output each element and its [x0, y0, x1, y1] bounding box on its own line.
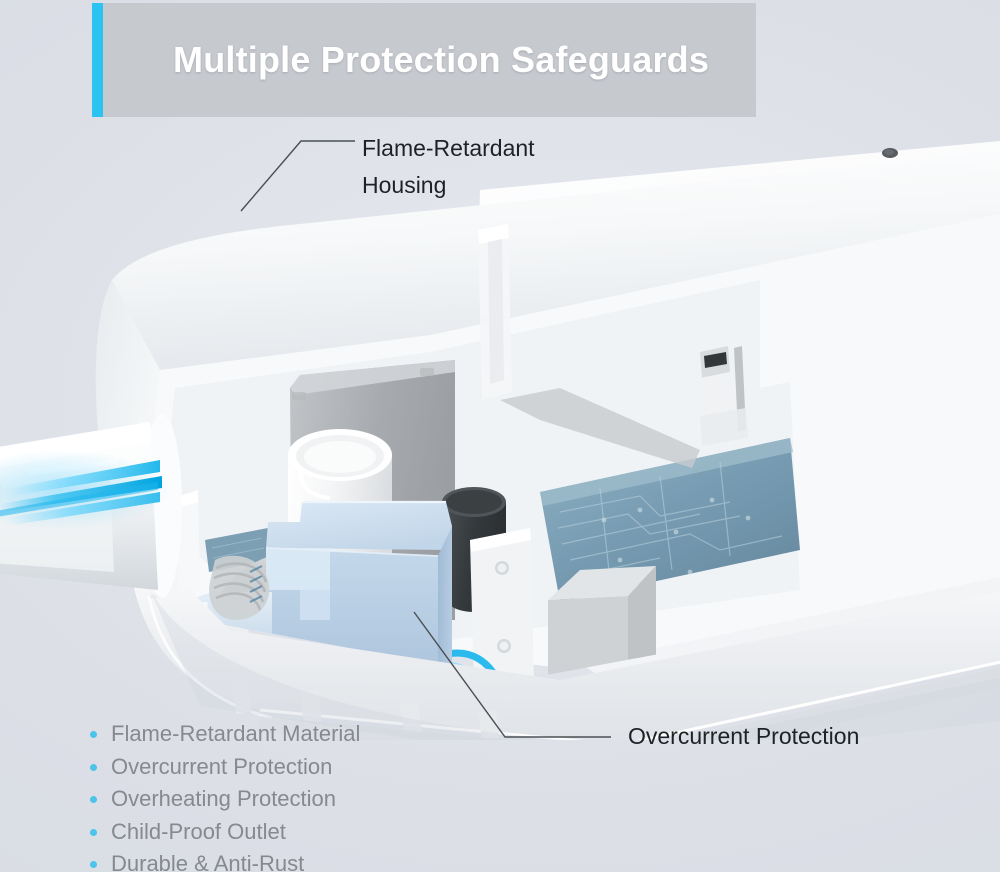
bullet-dot-icon	[90, 796, 97, 803]
list-item: Overheating Protection	[84, 783, 360, 816]
metal-contacts	[700, 346, 748, 446]
feature-label: Overheating Protection	[111, 786, 336, 811]
list-item: Child-Proof Outlet	[84, 816, 360, 849]
product-feature-graphic: Multiple Protection Safeguards Flame-Ret…	[0, 0, 1000, 872]
feature-label: Overcurrent Protection	[111, 754, 332, 779]
header-banner: Multiple Protection Safeguards	[92, 3, 756, 117]
bullet-dot-icon	[90, 731, 97, 738]
feature-label: Durable & Anti-Rust	[111, 851, 304, 872]
product-cutaway-illustration	[0, 120, 1000, 740]
list-item: Flame-Retardant Material	[84, 718, 360, 751]
power-inlet-cable	[0, 414, 182, 598]
feature-list: Flame-Retardant Material Overcurrent Pro…	[84, 718, 360, 872]
callout-flame-retardant-housing: Flame-Retardant Housing	[362, 130, 535, 204]
page-title: Multiple Protection Safeguards	[173, 39, 709, 81]
banner-accent-bar	[92, 3, 103, 117]
list-item: Durable & Anti-Rust	[84, 848, 360, 872]
feature-label: Flame-Retardant Material	[111, 721, 360, 746]
list-item: Overcurrent Protection	[84, 751, 360, 784]
contact-post	[478, 224, 512, 400]
bullet-dot-icon	[90, 861, 97, 868]
feature-label: Child-Proof Outlet	[111, 819, 286, 844]
bullet-dot-icon	[90, 829, 97, 836]
callout-overcurrent-protection: Overcurrent Protection	[628, 718, 859, 755]
mounting-bracket	[470, 528, 534, 688]
bullet-dot-icon	[90, 764, 97, 771]
